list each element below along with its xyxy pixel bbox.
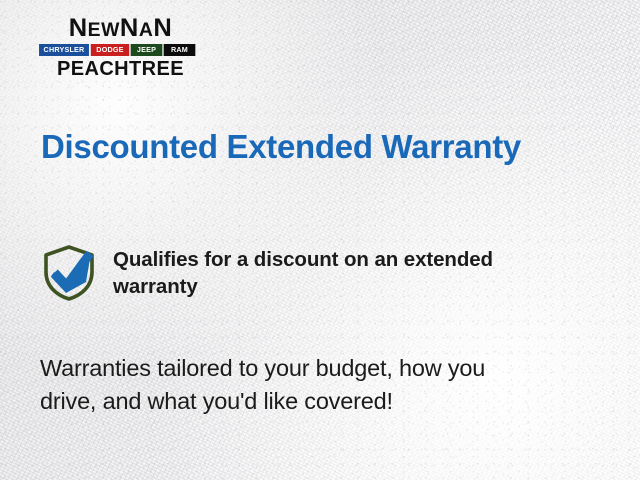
- promo-slide: NEWNAN CHRYSLER DODGE JEEP RAM PEACHTREE…: [0, 0, 640, 480]
- logo-newnan-small-2: A: [139, 20, 154, 41]
- feature-text: Qualifies for a discount on an extended …: [113, 246, 561, 301]
- badge-dodge: DODGE: [91, 44, 129, 56]
- dealership-logo: NEWNAN CHRYSLER DODGE JEEP RAM PEACHTREE: [38, 16, 203, 79]
- page-title: Discounted Extended Warranty: [41, 126, 521, 168]
- logo-newnan-cap-2: N: [120, 14, 139, 42]
- badge-chrysler: CHRYSLER: [39, 44, 89, 56]
- badge-ram: RAM: [164, 44, 196, 56]
- logo-peachtree-wordmark: PEACHTREE: [38, 59, 203, 79]
- logo-newnan-wordmark: NEWNAN: [36, 16, 204, 41]
- logo-brand-badges: CHRYSLER DODGE JEEP RAM: [38, 44, 203, 56]
- body-copy: Warranties tailored to your budget, how …: [40, 352, 540, 419]
- logo-newnan-cap-1: N: [69, 14, 88, 42]
- logo-newnan-cap-3: N: [153, 14, 172, 42]
- badge-jeep: JEEP: [131, 44, 163, 56]
- slide-content: NEWNAN CHRYSLER DODGE JEEP RAM PEACHTREE…: [0, 0, 640, 480]
- logo-newnan-small-1: EW: [88, 20, 120, 41]
- shield-check-icon: [41, 244, 97, 302]
- feature-row: Qualifies for a discount on an extended …: [41, 244, 561, 302]
